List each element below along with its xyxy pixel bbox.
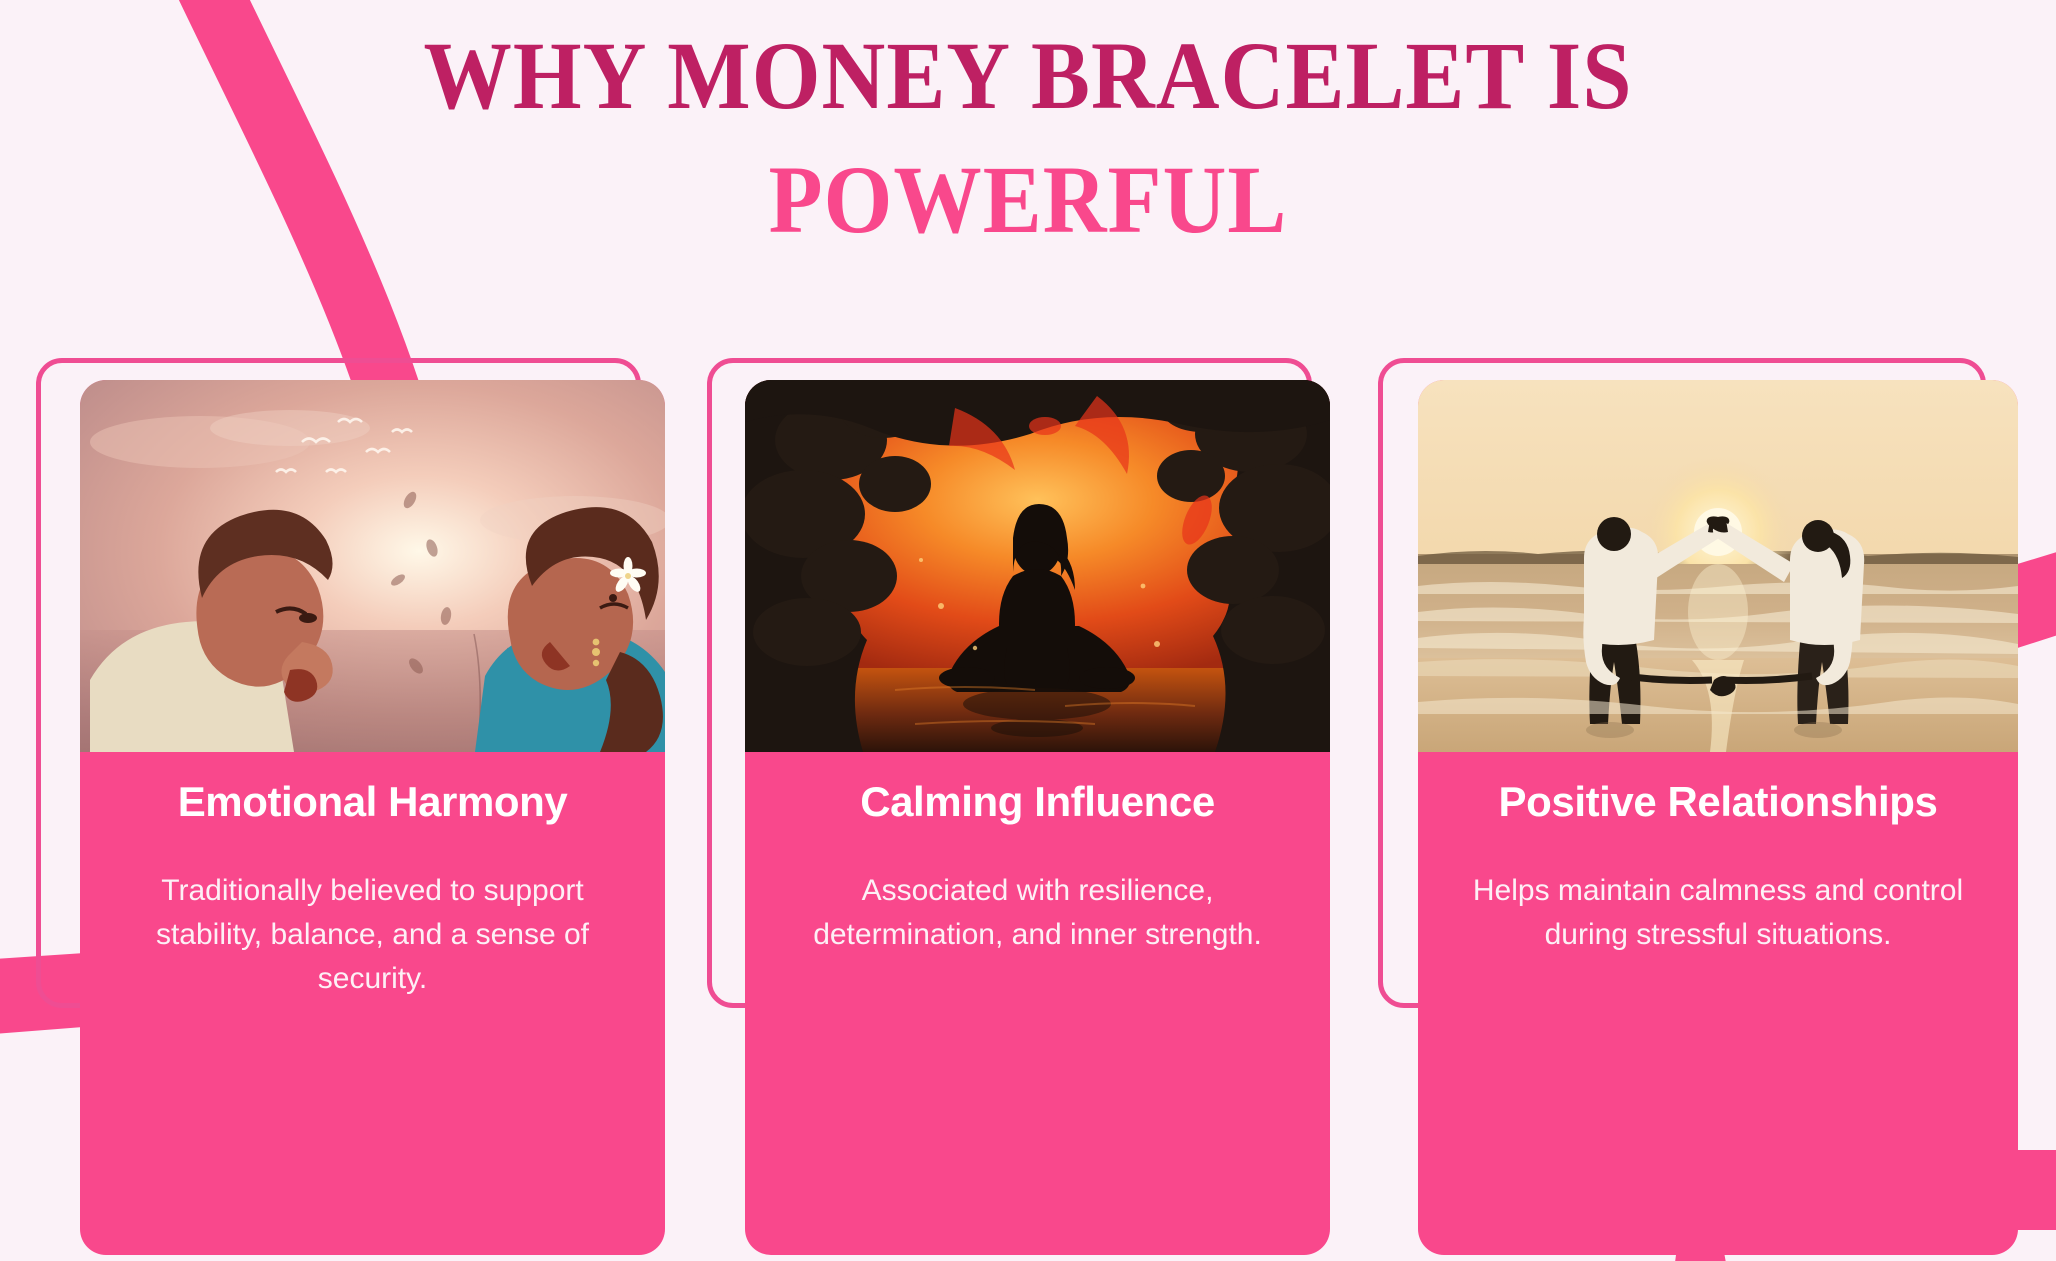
card-title: Calming Influence bbox=[775, 778, 1300, 825]
card-text: Emotional Harmony Traditionally believed… bbox=[80, 752, 665, 1255]
card-positive-relationships[interactable]: Positive Relationships Helps maintain ca… bbox=[1378, 358, 2018, 1238]
card-title: Emotional Harmony bbox=[110, 778, 635, 825]
card-description: Helps maintain calmness and control duri… bbox=[1448, 869, 1988, 957]
card-body: Positive Relationships Helps maintain ca… bbox=[1418, 380, 2018, 1255]
card-calming-influence[interactable]: Calming Influence Associated with resili… bbox=[707, 358, 1337, 1238]
card-emotional-harmony[interactable]: Emotional Harmony Traditionally believed… bbox=[36, 358, 666, 1238]
card-body: Emotional Harmony Traditionally believed… bbox=[80, 380, 665, 1255]
card-body: Calming Influence Associated with resili… bbox=[745, 380, 1330, 1255]
card-title: Positive Relationships bbox=[1448, 778, 1988, 825]
card-description: Associated with resilience, determinatio… bbox=[775, 869, 1300, 957]
card-description: Traditionally believed to support stabil… bbox=[110, 869, 635, 1000]
card-grid: Emotional Harmony Traditionally believed… bbox=[0, 0, 2056, 1261]
couple-at-sunset-illustration bbox=[80, 380, 665, 752]
card-text: Calming Influence Associated with resili… bbox=[745, 752, 1330, 1255]
couple-heart-hands-beach-sunset bbox=[1418, 380, 2018, 752]
card-text: Positive Relationships Helps maintain ca… bbox=[1418, 752, 2018, 1255]
meditating-silhouette-sunset bbox=[745, 380, 1330, 752]
